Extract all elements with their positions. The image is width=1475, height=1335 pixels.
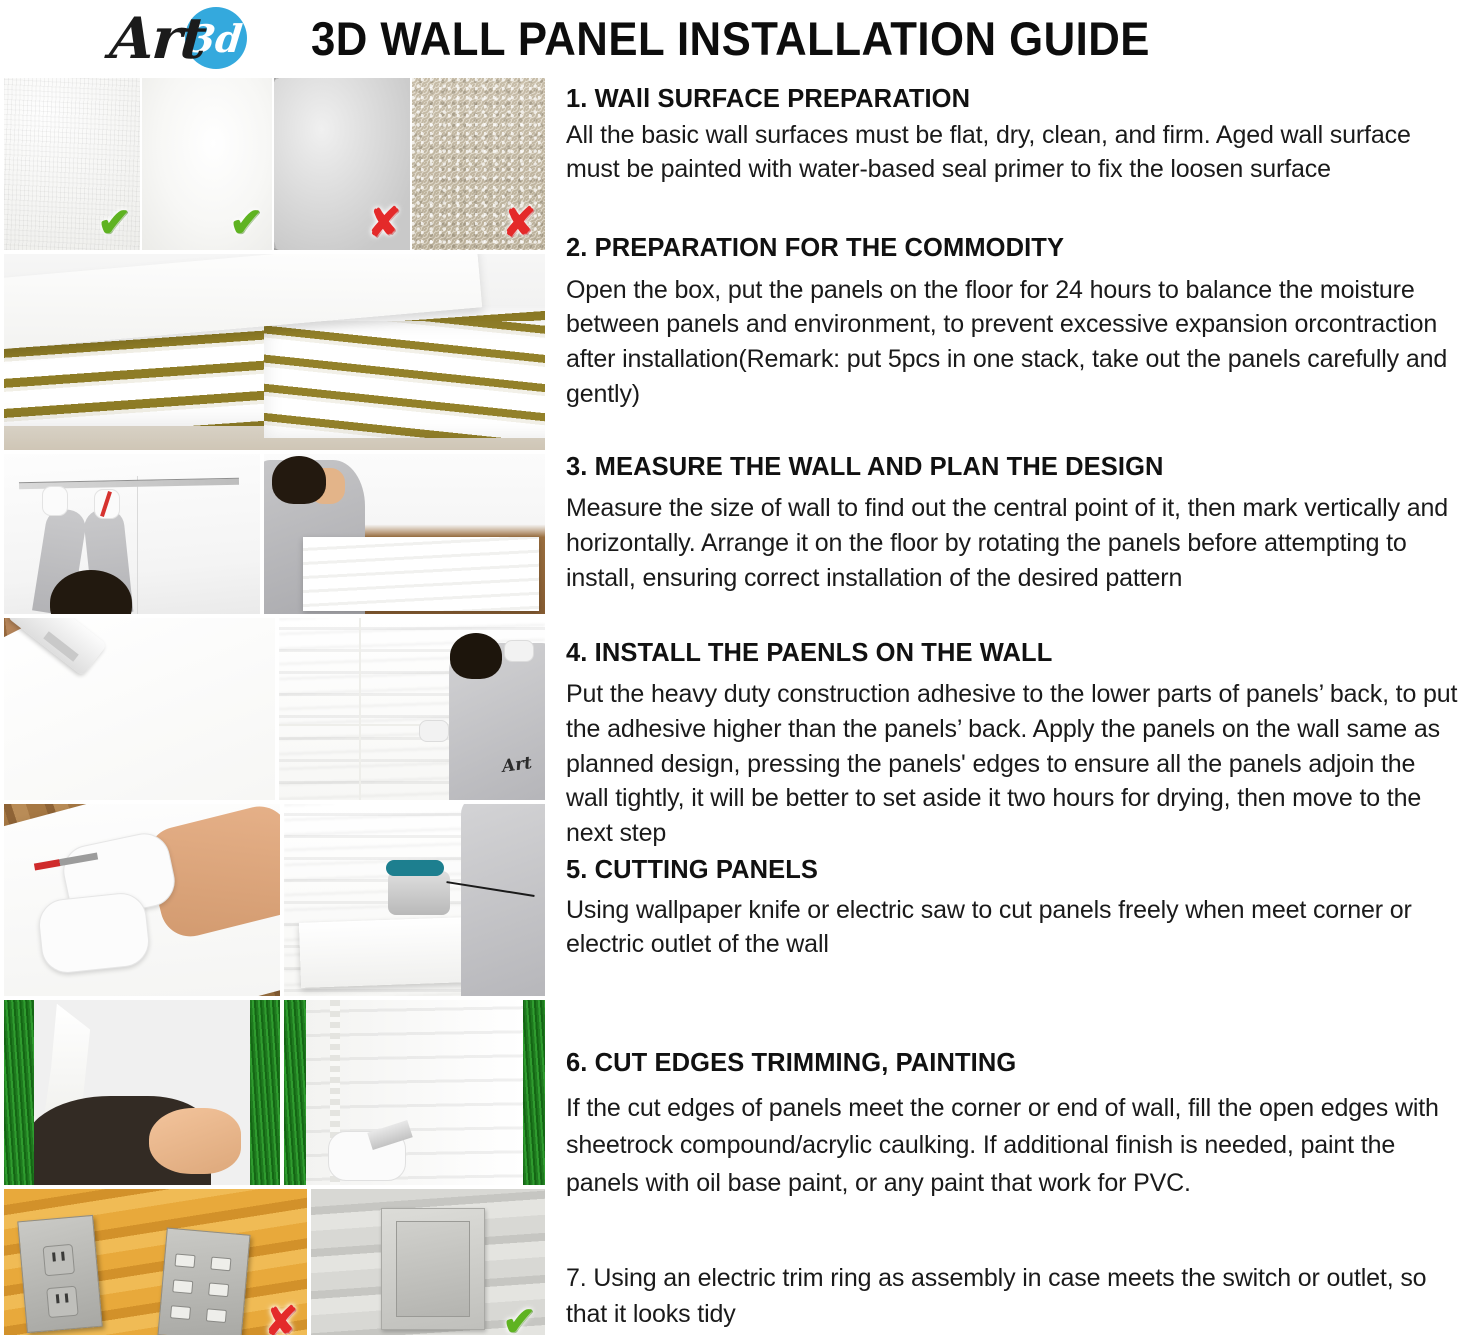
step-5: 5. CUTTING PANELS Using wallpaper knife … — [566, 855, 1459, 962]
data-jack-shape — [208, 1282, 229, 1297]
rejected-cross-icon: ✘ — [264, 1302, 298, 1335]
photo-outlet-with-trim-ring: ✔ — [311, 1189, 545, 1335]
photo-applying-adhesive — [4, 618, 275, 800]
photo-measuring-wall — [4, 454, 260, 614]
surface-sample-smooth-white: ✔ — [142, 78, 272, 250]
step-6-heading: 6. CUT EDGES TRIMMING, PAINTING — [566, 1048, 1459, 1080]
data-jack-shape — [170, 1305, 191, 1320]
step-1: 1. WAll SURFACE PREPARATION All the basi… — [566, 84, 1459, 187]
step-2: 2. PREPARATION FOR THE COMMODITY Open th… — [566, 233, 1459, 412]
trimming-row — [4, 1000, 545, 1185]
top-panel-shape — [4, 254, 482, 350]
circular-saw-shape — [388, 871, 450, 915]
panel-on-floor-shape — [303, 537, 539, 611]
data-jack-shape — [174, 1253, 195, 1268]
approved-check-icon: ✔ — [229, 203, 263, 243]
step-2-heading: 2. PREPARATION FOR THE COMMODITY — [566, 233, 1459, 265]
outlet-row: ✘ ✔ — [4, 1189, 545, 1335]
step-1-body: All the basic wall surfaces must be flat… — [566, 118, 1459, 188]
step-6-body: If the cut edges of panels meet the corn… — [566, 1090, 1459, 1203]
step-4-body: Put the heavy duty construction adhesive… — [566, 677, 1459, 851]
photo-arranging-panels — [264, 454, 545, 614]
photo-column: ✔ ✔ ✘ ✘ — [4, 78, 545, 1333]
jacket-brand-logo: Art — [500, 753, 532, 777]
worker-body-shape — [461, 804, 545, 996]
worker-head-shape — [272, 456, 326, 504]
wall-seam-line — [137, 476, 138, 614]
surface-sample-cracked-plaster: ✘ — [274, 78, 410, 250]
data-plate-shape — [157, 1227, 250, 1335]
step-6: 6. CUT EDGES TRIMMING, PAINTING If the c… — [566, 1048, 1459, 1202]
data-jack-shape — [172, 1279, 193, 1294]
rejected-cross-icon: ✘ — [502, 203, 536, 243]
page-header: Art 3d 3D WALL PANEL INSTALLATION GUIDE — [0, 0, 1475, 76]
photo-stacked-panels — [4, 254, 545, 450]
brand-logo: Art 3d — [0, 1, 255, 75]
step-2-body: Open the box, put the panels on the floo… — [566, 273, 1459, 412]
step-3: 3. MEASURE THE WALL AND PLAN THE DESIGN … — [566, 452, 1459, 596]
approved-check-icon: ✔ — [97, 203, 131, 243]
saw-handle-shape — [386, 860, 444, 876]
outlet-plate-shape — [17, 1215, 102, 1333]
photo-smoothing-edge — [284, 1000, 545, 1185]
photo-cutting-with-knife — [4, 804, 280, 996]
page-title: 3D WALL PANEL INSTALLATION GUIDE — [311, 11, 1150, 66]
data-jack-shape — [210, 1256, 231, 1271]
worker-glove-shape — [36, 891, 151, 976]
panel-stack-row — [4, 254, 545, 450]
surface-sample-textured-white: ✔ — [4, 78, 140, 250]
installing-row: Art — [4, 618, 545, 800]
step-7-body: 7. Using an electric trim ring as assemb… — [566, 1260, 1459, 1333]
data-jack-shape — [205, 1308, 226, 1323]
step-3-heading: 3. MEASURE THE WALL AND PLAN THE DESIGN — [566, 452, 1459, 484]
cutting-row — [4, 804, 545, 996]
step-5-heading: 5. CUTTING PANELS — [566, 855, 1459, 887]
worker-glove-shape — [42, 486, 68, 516]
electric-trim-ring-shape — [381, 1208, 485, 1330]
photo-outlets-not-flush: ✘ — [4, 1189, 307, 1335]
surface-sample-rough-stucco: ✘ — [412, 78, 545, 250]
step-1-heading: 1. WAll SURFACE PREPARATION — [566, 84, 1459, 116]
outlet-plate-shape — [396, 1221, 469, 1317]
rejected-cross-icon: ✘ — [367, 203, 401, 243]
worker-hand-shape — [419, 720, 449, 742]
photo-cutting-with-saw — [284, 804, 545, 996]
approved-check-icon: ✔ — [502, 1302, 536, 1335]
socket-shape — [46, 1285, 79, 1318]
step-4-heading: 4. INSTALL THE PAENLS ON THE WALL — [566, 638, 1459, 670]
step-5-body: Using wallpaper knife or electric saw to… — [566, 893, 1459, 963]
measuring-row — [4, 454, 545, 614]
photo-pressing-panel-on-wall: Art — [279, 618, 545, 800]
photo-inner-frame — [34, 1000, 250, 1185]
surface-sample-row: ✔ ✔ ✘ ✘ — [4, 78, 545, 250]
socket-shape — [43, 1244, 76, 1277]
photo-inner-frame — [306, 1000, 523, 1185]
panel-seam-vertical — [359, 618, 361, 800]
worker-head-shape — [450, 633, 502, 679]
photo-filling-cut-edge — [4, 1000, 280, 1185]
logo-wordmark-art: Art — [108, 10, 207, 67]
instructions-column: 1. WAll SURFACE PREPARATION All the basi… — [566, 84, 1459, 1333]
finger-shape — [149, 1108, 241, 1174]
installation-guide-page: Art 3d 3D WALL PANEL INSTALLATION GUIDE … — [0, 0, 1475, 1335]
step-3-body: Measure the size of wall to find out the… — [566, 491, 1459, 595]
step-7: 7. Using an electric trim ring as assemb… — [566, 1260, 1459, 1333]
step-4: 4. INSTALL THE PAENLS ON THE WALL Put th… — [566, 638, 1459, 851]
worker-hand-shape — [504, 640, 534, 662]
